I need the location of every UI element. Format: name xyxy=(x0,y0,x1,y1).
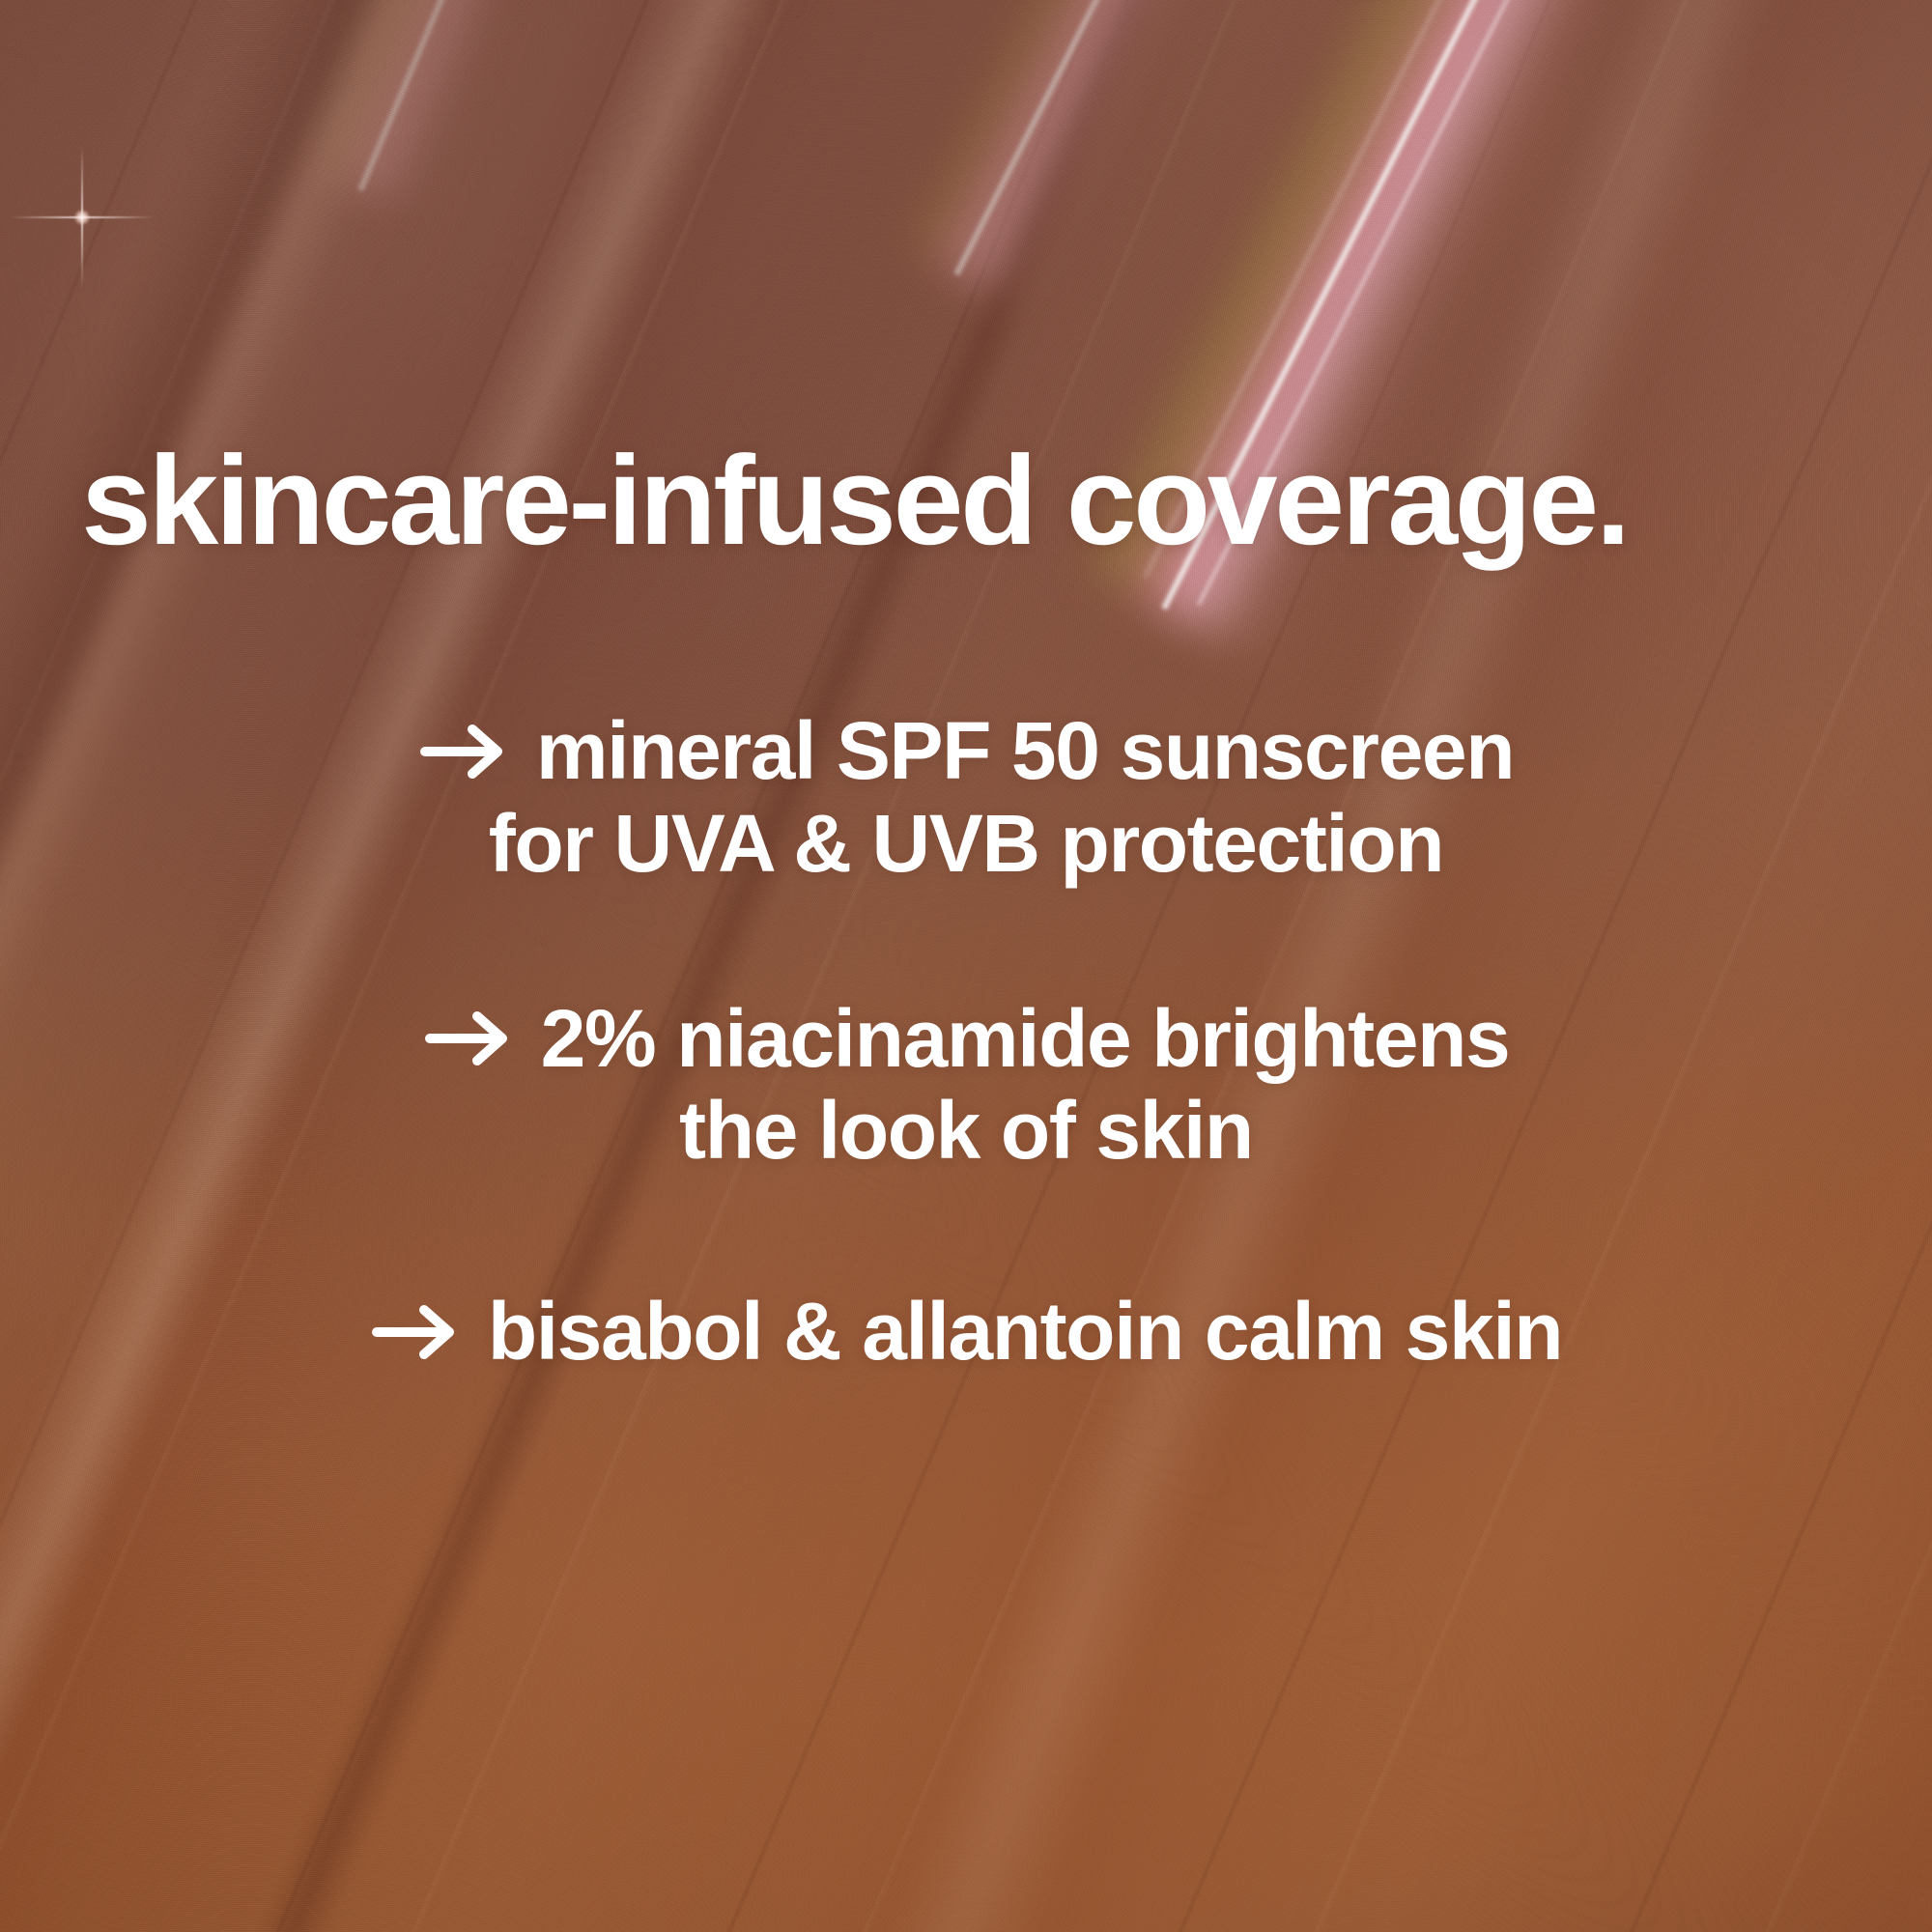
benefit-text: the look of skin xyxy=(679,1085,1253,1176)
benefit-text: for UVA & UVB protection xyxy=(489,798,1443,889)
benefit-line: for UVA & UVB protection xyxy=(0,798,1932,891)
copy-layer: skincare-infused coverage. mineral SPF 5… xyxy=(0,0,1932,1932)
benefit-list: mineral SPF 50 sunscreen for UVA & UVB p… xyxy=(0,705,1932,1378)
arrow-right-icon xyxy=(418,722,511,781)
benefit-item-niacinamide: 2% niacinamide brightens the look of ski… xyxy=(0,993,1932,1179)
page-headline: skincare-infused coverage. xyxy=(81,437,1628,563)
benefit-item-spf: mineral SPF 50 sunscreen for UVA & UVB p… xyxy=(0,705,1932,891)
arrow-right-icon xyxy=(370,1302,463,1362)
benefit-text: mineral SPF 50 sunscreen xyxy=(536,705,1514,796)
benefit-line: the look of skin xyxy=(0,1085,1932,1178)
benefit-text: 2% niacinamide brightens xyxy=(541,993,1510,1084)
arrow-right-icon xyxy=(423,1009,516,1068)
marketing-graphic-canvas: skincare-infused coverage. mineral SPF 5… xyxy=(0,0,1932,1932)
benefit-line: 2% niacinamide brightens xyxy=(0,993,1932,1086)
benefit-text: bisabol & allantoin calm skin xyxy=(488,1286,1562,1377)
benefit-line: bisabol & allantoin calm skin xyxy=(0,1286,1932,1378)
benefit-item-soothing: bisabol & allantoin calm skin xyxy=(0,1286,1932,1378)
benefit-line: mineral SPF 50 sunscreen xyxy=(0,705,1932,798)
